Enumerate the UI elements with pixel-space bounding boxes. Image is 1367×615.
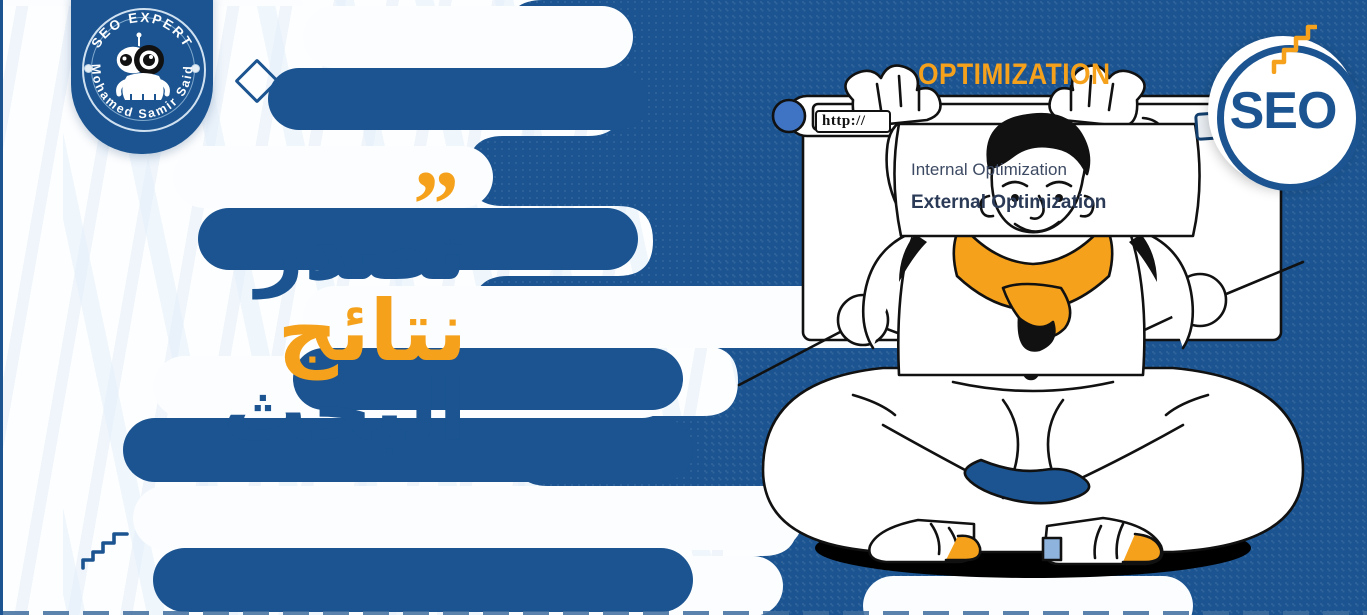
external-optimization-label: External Optimization	[911, 192, 1106, 214]
banner-stage: OPTIMIZATION http:// Internal Optimizati…	[0, 0, 1367, 615]
internal-optimization-label: Internal Optimization	[911, 160, 1067, 180]
browser-url-text: http://	[815, 110, 891, 133]
seo-expert-logo-badge[interactable]: SEO EXPERT Mohamed Samir Said	[71, 0, 213, 154]
orange-zigzag-stairs-icon	[1271, 22, 1317, 74]
headline-line-1: تصدر	[47, 210, 467, 291]
headline-line-3: البحث	[47, 371, 467, 452]
headline-block: تصدر نتائج البحث	[47, 210, 467, 452]
bottom-dashed-rule	[3, 611, 1367, 615]
robot-mascot-icon	[109, 32, 177, 106]
optimization-title: OPTIMIZATION	[918, 58, 1111, 92]
blue-zigzag-stairs-icon	[81, 530, 129, 570]
headline-line-2: نتائج	[47, 291, 467, 372]
